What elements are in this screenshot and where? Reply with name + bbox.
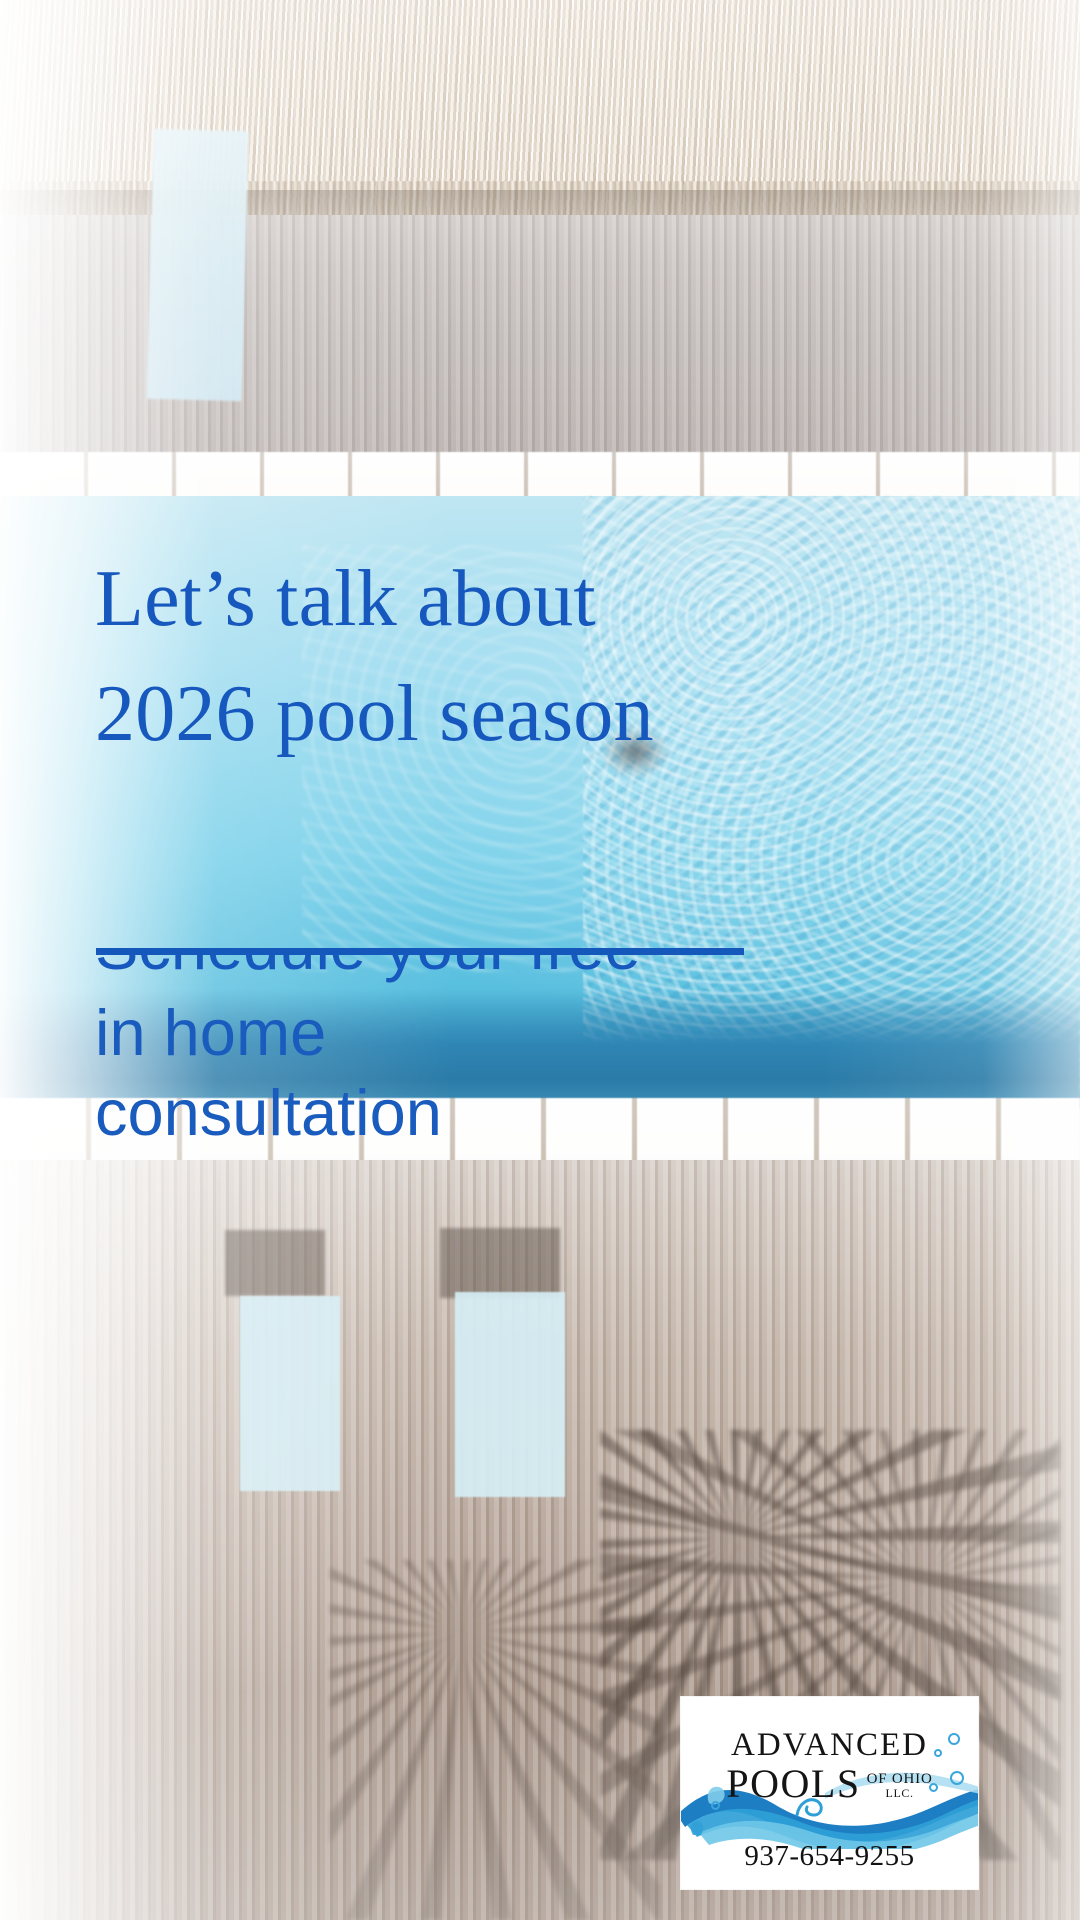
subhead-clipped-line-mask: Schedule your free (95, 948, 795, 1000)
subhead-divider-rule (96, 948, 744, 955)
logo-brand-line-1: ADVANCED (681, 1729, 978, 1762)
logo-brand-line-2: POOLS (726, 1764, 860, 1804)
logo-card: ADVANCED POOLS OF OHIO LLC. 937-654-9255 (681, 1697, 978, 1889)
logo-inner: ADVANCED POOLS OF OHIO LLC. 937-654-9255 (681, 1697, 978, 1889)
logo-brand-line-2-row: POOLS OF OHIO LLC. (681, 1764, 978, 1804)
subhead-line-2: in home (95, 1000, 815, 1066)
subhead: in home consultation (95, 1000, 815, 1161)
text-overlay: Let’s talk about 2026 pool season Schedu… (0, 0, 1080, 1920)
headline-line-1: Let’s talk about (95, 542, 795, 657)
logo-qualifier-llc: LLC. (886, 1787, 914, 1800)
logo-phone-number: 937-654-9255 (681, 1840, 978, 1873)
headline: Let’s talk about 2026 pool season (95, 542, 795, 772)
headline-line-2: 2026 pool season (95, 657, 795, 772)
logo-qualifier: OF OHIO LLC. (867, 1772, 933, 1804)
video-frame: Let’s talk about 2026 pool season Schedu… (0, 0, 1080, 1920)
logo-wordmark: ADVANCED POOLS OF OHIO LLC. (681, 1729, 978, 1804)
logo-qualifier-of-ohio: OF OHIO (867, 1772, 933, 1788)
subhead-line-3: consultation (95, 1080, 815, 1146)
